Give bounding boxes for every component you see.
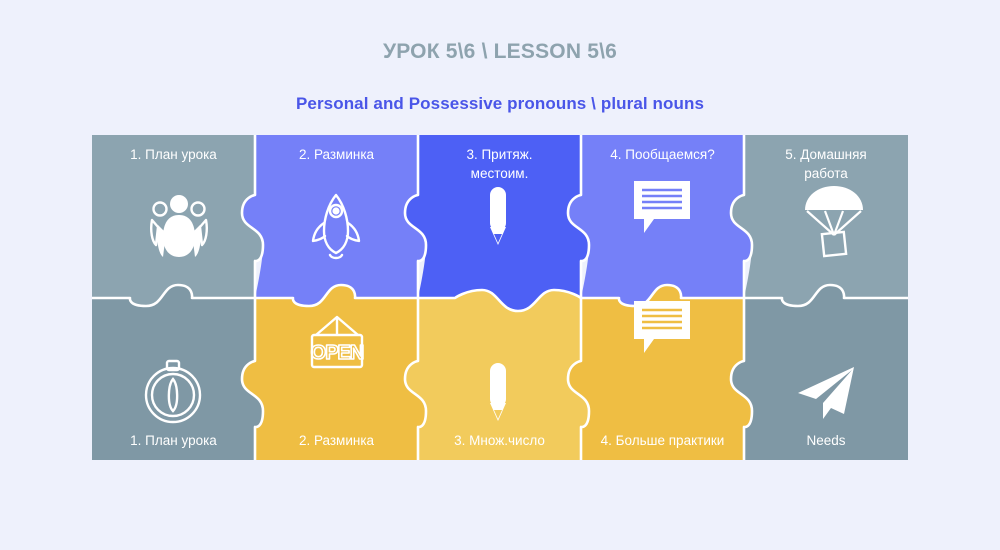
puzzle-piece-bottom-1[interactable] <box>92 285 263 460</box>
page-title: УРОК 5\6 \ LESSON 5\6 <box>0 40 1000 64</box>
svg-text:OPEN: OPEN <box>311 342 364 364</box>
puzzle-graphic: OPEN <box>92 135 908 460</box>
slide-canvas: УРОК 5\6 \ LESSON 5\6 Personal and Posse… <box>0 0 1000 550</box>
puzzle-piece-bottom-2[interactable] <box>242 285 426 460</box>
puzzle-piece-top-4[interactable] <box>568 135 752 306</box>
page-subtitle: Personal and Possessive pronouns \ plura… <box>0 94 1000 114</box>
puzzle-board: OPEN <box>92 135 908 460</box>
puzzle-piece-top-5[interactable] <box>731 135 908 306</box>
puzzle-piece-bottom-5[interactable] <box>731 285 908 460</box>
puzzle-piece-top-2[interactable] <box>242 135 426 306</box>
